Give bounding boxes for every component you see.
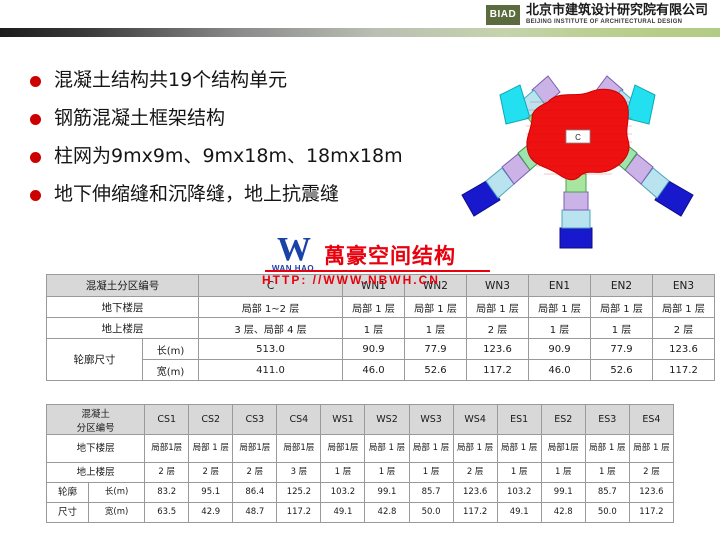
table1-col-header: C — [199, 275, 343, 297]
table-cell: 99.1 — [365, 483, 409, 503]
table-row: 混凝土分区编号 C WN1 WN2 WN3 EN1 EN2 EN3 — [47, 275, 715, 297]
table-cell: 46.0 — [343, 360, 405, 381]
table-cell: 局部1层 — [277, 435, 321, 463]
table2-col-header: CS4 — [277, 405, 321, 435]
table-cell: 局部 1 层 — [585, 435, 629, 463]
table-cell: 局部 1 层 — [629, 435, 673, 463]
table-cell: 2 层 — [467, 318, 529, 339]
table-cell: 局部 1 层 — [409, 435, 453, 463]
table-cell: 99.1 — [541, 483, 585, 503]
table2-col-header: WS1 — [321, 405, 365, 435]
table2-row-label: 地上楼层 — [47, 463, 145, 483]
table-cell: 1 层 — [343, 318, 405, 339]
table1-col-header: EN3 — [653, 275, 715, 297]
table-cell: 85.7 — [409, 483, 453, 503]
table2-row-header-label: 混凝土 分区编号 — [47, 405, 145, 435]
table-cell: 1 层 — [585, 463, 629, 483]
table-cell: 1 层 — [497, 463, 541, 483]
watermark-title: 萬豪空间结构 — [324, 240, 456, 270]
table-cell: 1 层 — [409, 463, 453, 483]
table1-col-header: EN1 — [529, 275, 591, 297]
table-cell: 局部 1 层 — [467, 297, 529, 318]
table-cell: 2 层 — [189, 463, 233, 483]
table-cell: 局部 1 层 — [343, 297, 405, 318]
table-cell: 52.6 — [405, 360, 467, 381]
table-cell: 3 层 — [277, 463, 321, 483]
table-cell: 117.2 — [653, 360, 715, 381]
table-cell: 83.2 — [145, 483, 189, 503]
table-row: 地下楼层 局部 1~2 层 局部 1 层 局部 1 层 局部 1 层 局部 1 … — [47, 297, 715, 318]
table2-col-header: CS2 — [189, 405, 233, 435]
table1-col-header: WN2 — [405, 275, 467, 297]
table-cell: 90.9 — [343, 339, 405, 360]
table1-row-label: 地上楼层 — [47, 318, 199, 339]
table1-row-label: 地下楼层 — [47, 297, 199, 318]
watermark-logo: W WAN HAO — [262, 236, 324, 273]
table-cell: 49.1 — [497, 503, 541, 523]
table1-sub-label: 长(m) — [143, 339, 199, 360]
bullet-text: 钢筋混凝土框架结构 — [54, 108, 225, 129]
table-cell: 局部 1 层 — [453, 435, 497, 463]
table-cell: 3 层、局部 4 层 — [199, 318, 343, 339]
bullet-text: 地下伸缩缝和沉降缝，地上抗震缝 — [54, 184, 339, 205]
bullet-dot-icon — [30, 114, 41, 125]
table-row: 尺寸 宽(m) 63.5 42.9 48.7 117.2 49.1 42.8 5… — [47, 503, 674, 523]
table2-row-header-line1: 混凝土 — [81, 409, 110, 420]
table-cell: 局部 1 层 — [189, 435, 233, 463]
table-cell: 50.0 — [585, 503, 629, 523]
table-cell: 513.0 — [199, 339, 343, 360]
list-item: 柱网为9mx9m、9mx18m、18mx18m — [30, 146, 450, 167]
table2-row-label: 地下楼层 — [47, 435, 145, 463]
table2-col-header: CS1 — [145, 405, 189, 435]
table-cell: 1 层 — [541, 463, 585, 483]
company-name-en: BEIJING INSTITUTE OF ARCHITECTURAL DESIG… — [526, 19, 708, 25]
table-cell: 局部 1 层 — [653, 297, 715, 318]
list-item: 混凝土结构共19个结构单元 — [30, 70, 450, 91]
table-cell: 49.1 — [321, 503, 365, 523]
header-gradient-bar — [0, 28, 720, 37]
table-cell: 77.9 — [405, 339, 467, 360]
table-cell: 局部 1 层 — [529, 297, 591, 318]
biad-logo-text: 北京市建筑设计研究院有限公司 BEIJING INSTITUTE OF ARCH… — [526, 4, 708, 25]
table-cell: 85.7 — [585, 483, 629, 503]
table1-col-header: WN3 — [467, 275, 529, 297]
table2-sub-label: 宽(m) — [89, 503, 145, 523]
watermark-rule — [265, 270, 490, 272]
table-row: 轮廓尺寸 长(m) 513.0 90.9 77.9 123.6 90.9 77.… — [47, 339, 715, 360]
biad-logo: BIAD 北京市建筑设计研究院有限公司 BEIJING INSTITUTE OF… — [486, 4, 708, 25]
table1-row-header-label: 混凝土分区编号 — [47, 275, 199, 297]
list-item: 地下伸缩缝和沉降缝，地上抗震缝 — [30, 184, 450, 205]
table2-sub-label: 长(m) — [89, 483, 145, 503]
table-cell: 123.6 — [467, 339, 529, 360]
table-cell: 117.2 — [453, 503, 497, 523]
table1-group-label: 轮廓尺寸 — [47, 339, 143, 381]
structural-zoning-diagram: C — [440, 40, 715, 262]
table-cell: 123.6 — [629, 483, 673, 503]
table-cell: 局部 1 层 — [591, 297, 653, 318]
table-row: 轮廓 长(m) 83.2 95.1 86.4 125.2 103.2 99.1 … — [47, 483, 674, 503]
table-cell: 117.2 — [467, 360, 529, 381]
table2-col-header: ES2 — [541, 405, 585, 435]
table-cell: 95.1 — [189, 483, 233, 503]
table1-col-header: WN1 — [343, 275, 405, 297]
table-cell: 117.2 — [277, 503, 321, 523]
table-cell: 局部1层 — [233, 435, 277, 463]
table2-col-header: CS3 — [233, 405, 277, 435]
table-cell: 局部 1~2 层 — [199, 297, 343, 318]
table-cell: 1 层 — [591, 318, 653, 339]
table1-col-header: EN2 — [591, 275, 653, 297]
company-name-cn: 北京市建筑设计研究院有限公司 — [526, 4, 708, 17]
biad-logo-mark: BIAD — [486, 5, 520, 25]
table-cell: 90.9 — [529, 339, 591, 360]
table-cell: 42.8 — [541, 503, 585, 523]
table-cell: 1 层 — [405, 318, 467, 339]
table-cell: 123.6 — [653, 339, 715, 360]
table-cell: 103.2 — [321, 483, 365, 503]
table2-group-label: 轮廓 — [47, 483, 89, 503]
table2-row-header-line2: 分区编号 — [77, 423, 115, 434]
table2-group-label: 尺寸 — [47, 503, 89, 523]
table-cell: 50.0 — [409, 503, 453, 523]
table-cell: 52.6 — [591, 360, 653, 381]
page-header: BIAD 北京市建筑设计研究院有限公司 BEIJING INSTITUTE OF… — [0, 0, 720, 28]
table-cell: 2 层 — [145, 463, 189, 483]
table2-col-header: ES1 — [497, 405, 541, 435]
table-row: 地上楼层 3 层、局部 4 层 1 层 1 层 2 层 1 层 1 层 2 层 — [47, 318, 715, 339]
table-cell: 123.6 — [453, 483, 497, 503]
watermark-mark: W — [262, 236, 324, 265]
table-cell: 局部1层 — [321, 435, 365, 463]
bullet-text: 柱网为9mx9m、9mx18m、18mx18m — [54, 146, 403, 167]
diagram-center-label: C — [575, 133, 581, 142]
table-cell: 117.2 — [629, 503, 673, 523]
table-cell: 103.2 — [497, 483, 541, 503]
table-cell: 42.9 — [189, 503, 233, 523]
table-cell: 1 层 — [529, 318, 591, 339]
table-cell: 1 层 — [321, 463, 365, 483]
table-cell: 125.2 — [277, 483, 321, 503]
table-cell: 86.4 — [233, 483, 277, 503]
table-cell: 42.8 — [365, 503, 409, 523]
table2-col-header: WS4 — [453, 405, 497, 435]
table-cell: 2 层 — [233, 463, 277, 483]
table-cell: 局部 1 层 — [405, 297, 467, 318]
table-cell: 局部 1 层 — [497, 435, 541, 463]
table-row: 地下楼层 局部1层 局部 1 层 局部1层 局部1层 局部1层 局部 1 层 局… — [47, 435, 674, 463]
table-cell: 46.0 — [529, 360, 591, 381]
concrete-zone-table-south: 混凝土 分区编号 CS1 CS2 CS3 CS4 WS1 WS2 WS3 WS4… — [46, 404, 674, 523]
table-row: 地上楼层 2 层 2 层 2 层 3 层 1 层 1 层 1 层 2 层 1 层… — [47, 463, 674, 483]
table2-col-header: WS2 — [365, 405, 409, 435]
concrete-zone-table-north: 混凝土分区编号 C WN1 WN2 WN3 EN1 EN2 EN3 地下楼层 局… — [46, 274, 674, 381]
table-row: 混凝土 分区编号 CS1 CS2 CS3 CS4 WS1 WS2 WS3 WS4… — [47, 405, 674, 435]
table-cell: 2 层 — [629, 463, 673, 483]
table2-col-header: ES4 — [629, 405, 673, 435]
table-cell: 2 层 — [453, 463, 497, 483]
table-cell: 411.0 — [199, 360, 343, 381]
bullet-dot-icon — [30, 152, 41, 163]
table-cell: 1 层 — [365, 463, 409, 483]
table2-col-header: ES3 — [585, 405, 629, 435]
bullet-dot-icon — [30, 190, 41, 201]
bullet-list: 混凝土结构共19个结构单元 钢筋混凝土框架结构 柱网为9mx9m、9mx18m、… — [30, 70, 450, 222]
table-row: 宽(m) 411.0 46.0 52.6 117.2 46.0 52.6 117… — [47, 360, 715, 381]
table2-col-header: WS3 — [409, 405, 453, 435]
list-item: 钢筋混凝土框架结构 — [30, 108, 450, 129]
table-cell: 2 层 — [653, 318, 715, 339]
table-cell: 77.9 — [591, 339, 653, 360]
table-cell: 局部1层 — [541, 435, 585, 463]
bullet-text: 混凝土结构共19个结构单元 — [54, 70, 287, 91]
table-cell: 局部1层 — [145, 435, 189, 463]
table-cell: 48.7 — [233, 503, 277, 523]
bullet-dot-icon — [30, 76, 41, 87]
watermark-mark-sub: WAN HAO — [262, 264, 324, 273]
table-cell: 局部 1 层 — [365, 435, 409, 463]
table-cell: 63.5 — [145, 503, 189, 523]
table1-sub-label: 宽(m) — [143, 360, 199, 381]
